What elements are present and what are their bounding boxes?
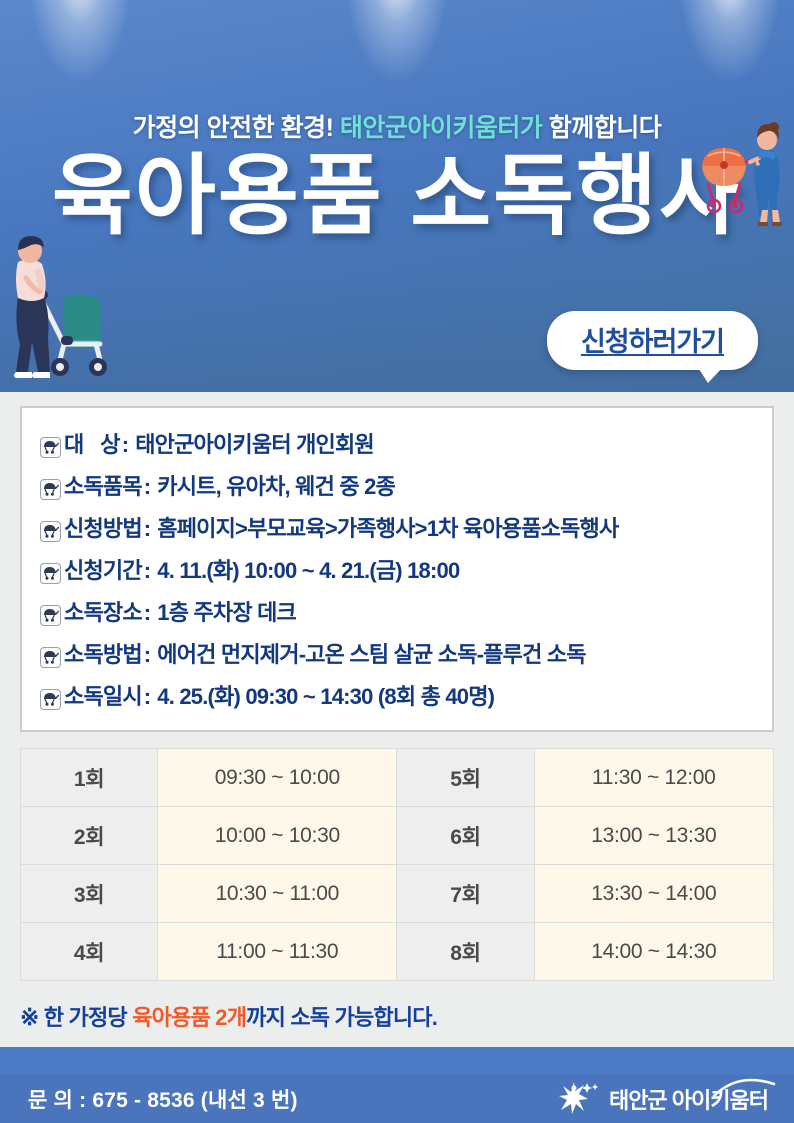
apply-button-wrapper: 신청하러가기: [547, 311, 758, 370]
hero-headline: 가정의 안전한 환경! 태안군아이키움터가 함께합니다: [0, 0, 794, 144]
session-time: 10:00 ~ 10:30: [158, 807, 397, 865]
session-number: 3회: [21, 865, 158, 923]
speech-bubble-tail: [697, 366, 724, 383]
info-row-separator: :: [142, 558, 158, 584]
info-row-label: 신청방법: [64, 511, 142, 543]
roof-accent-icon: [712, 1074, 776, 1100]
table-row: 1회09:30 ~ 10:005회11:30 ~ 12:00: [21, 749, 774, 807]
info-row-label: 소독품목: [64, 469, 142, 501]
stroller-icon: [40, 605, 61, 626]
session-time: 13:00 ~ 13:30: [534, 807, 773, 865]
info-row: 소독일시:4. 25.(화) 09:30 ~ 14:30 (8회 총 40명): [40, 674, 762, 716]
info-row-value: 4. 11.(화) 10:00 ~ 4. 21.(금) 18:00: [157, 553, 459, 585]
info-row-value: 카시트, 유아차, 웨건 중 2종: [157, 469, 395, 501]
info-row-label: 소독일시: [64, 679, 142, 711]
info-row-value: 에어건 먼지제거-고온 스팀 살균 소독-플루건 소독: [157, 637, 585, 669]
content-area: 대상:태안군아이키움터 개인회원소독품목:카시트, 유아차, 웨건 중 2종신청…: [0, 392, 794, 1047]
info-row-separator: :: [142, 642, 158, 668]
table-row: 4회11:00 ~ 11:308회14:00 ~ 14:30: [21, 923, 774, 981]
headline-text-first: 가정의 안전한 환경!: [133, 114, 340, 142]
session-number: 1회: [21, 749, 158, 807]
note-highlight: 육아용품 2개: [132, 1005, 246, 1030]
info-box: 대상:태안군아이키움터 개인회원소독품목:카시트, 유아차, 웨건 중 2종신청…: [20, 406, 774, 732]
info-row: 소독품목:카시트, 유아차, 웨건 중 2종: [40, 464, 762, 506]
session-number: 6회: [397, 807, 534, 865]
session-number: 8회: [397, 923, 534, 981]
session-number: 7회: [397, 865, 534, 923]
stroller-icon: [40, 647, 61, 668]
info-row-separator: :: [142, 474, 158, 500]
info-row-value: 태안군아이키움터 개인회원: [135, 427, 374, 459]
hero-section: 가정의 안전한 환경! 태안군아이키움터가 함께합니다 육아용품 소독행사: [0, 0, 794, 392]
dad-pushing-stroller-illustration: [4, 224, 124, 384]
session-number: 2회: [21, 807, 158, 865]
info-row: 신청방법:홈페이지>부모교육>가족행사>1차 육아용품소독행사: [40, 506, 762, 548]
stroller-icon: [40, 479, 61, 500]
schedule-table: 1회09:30 ~ 10:005회11:30 ~ 12:002회10:00 ~ …: [20, 748, 774, 981]
table-row: 3회10:30 ~ 11:007회13:30 ~ 14:00: [21, 865, 774, 923]
session-number: 5회: [397, 749, 534, 807]
session-number: 4회: [21, 923, 158, 981]
session-time: 09:30 ~ 10:00: [158, 749, 397, 807]
footer-contact: 문 의 : 675 - 8536 (내선 3 번): [28, 1084, 298, 1114]
note-text: ※ 한 가정당 육아용품 2개까지 소독 가능합니다.: [20, 1000, 774, 1032]
session-time: 13:30 ~ 14:00: [534, 865, 773, 923]
info-row: 소독방법:에어건 먼지제거-고온 스팀 살균 소독-플루건 소독: [40, 632, 762, 674]
stroller-icon: [40, 521, 61, 542]
headline-accent-text: 태안군아이키움터가: [340, 114, 543, 142]
mom-with-pram-illustration: [694, 118, 786, 230]
info-row: 대상:태안군아이키움터 개인회원: [40, 422, 762, 464]
session-time: 11:30 ~ 12:00: [534, 749, 773, 807]
note-part-1: 한 가정당: [38, 1005, 132, 1030]
session-time: 10:30 ~ 11:00: [158, 865, 397, 923]
stroller-icon: [40, 689, 61, 710]
stroller-icon: [40, 563, 61, 584]
asterisk-mark-icon: ※: [20, 1004, 38, 1030]
star-person-logo-icon: [557, 1080, 603, 1118]
schedule-table-body: 1회09:30 ~ 10:005회11:30 ~ 12:002회10:00 ~ …: [21, 749, 774, 981]
info-row-label: 신청기간: [64, 553, 142, 585]
note-part-2: 까지 소독 가능합니다.: [246, 1005, 437, 1030]
headline-text-last: 함께합니다: [542, 114, 661, 142]
info-row-separator: :: [142, 684, 158, 710]
info-row-label: 소독장소: [64, 595, 142, 627]
info-row-value: 홈페이지>부모교육>가족행사>1차 육아용품소독행사: [157, 511, 618, 543]
poster-root: 가정의 안전한 환경! 태안군아이키움터가 함께합니다 육아용품 소독행사: [0, 0, 794, 1123]
info-row-separator: :: [120, 432, 136, 458]
info-row-label: 소독방법: [64, 637, 142, 669]
info-row-value: 4. 25.(화) 09:30 ~ 14:30 (8회 총 40명): [157, 679, 494, 711]
stroller-icon: [40, 437, 61, 458]
info-row: 소독장소:1층 주차장 데크: [40, 590, 762, 632]
footer-logo: 태안군 아이키움터: [557, 1080, 768, 1118]
session-time: 11:00 ~ 11:30: [158, 923, 397, 981]
session-time: 14:00 ~ 14:30: [534, 923, 773, 981]
page-title: 육아용품 소독행사: [0, 150, 794, 242]
footer: 문 의 : 675 - 8536 (내선 3 번) 태안군 아이키움터: [0, 1075, 794, 1123]
info-row-value: 1층 주차장 데크: [157, 595, 296, 627]
apply-button[interactable]: 신청하러가기: [547, 311, 758, 370]
info-row-label: 대상: [64, 427, 120, 459]
info-row-separator: :: [142, 516, 158, 542]
info-row: 신청기간:4. 11.(화) 10:00 ~ 4. 21.(금) 18:00: [40, 548, 762, 590]
table-row: 2회10:00 ~ 10:306회13:00 ~ 13:30: [21, 807, 774, 865]
info-row-separator: :: [142, 600, 158, 626]
